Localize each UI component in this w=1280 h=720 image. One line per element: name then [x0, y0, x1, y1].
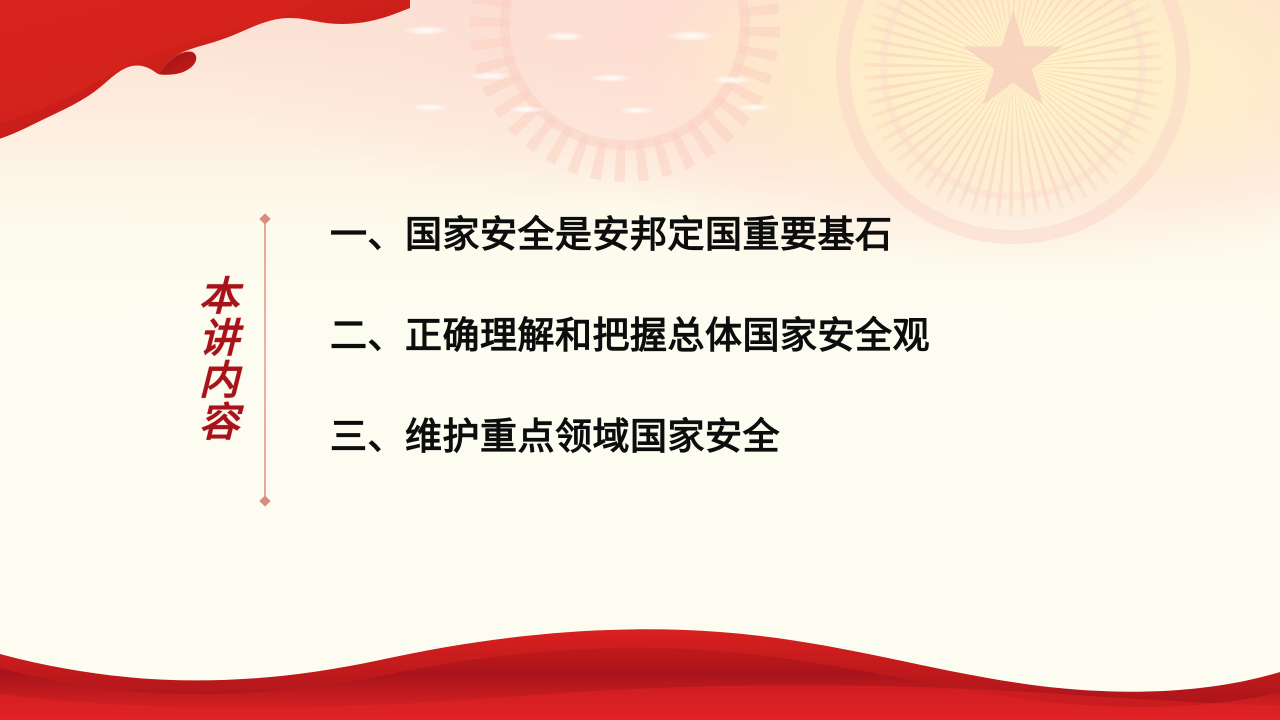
agenda-item-1[interactable]: 一、国家安全是安邦定国重要基石: [330, 216, 1090, 253]
presentation-slide: 本讲内容 一、国家安全是安邦定国重要基石 二、正确理解和把握总体国家安全观 三、…: [0, 0, 1280, 720]
agenda-item-3[interactable]: 三、维护重点领域国家安全: [330, 418, 1090, 455]
divider-diamond-top-icon: [259, 213, 270, 224]
vertical-section-title: 本讲内容: [182, 214, 244, 504]
divider-diamond-bottom-icon: [259, 495, 270, 506]
vertical-divider: [264, 219, 266, 501]
agenda-item-2[interactable]: 二、正确理解和把握总体国家安全观: [330, 317, 1090, 354]
slide-content: 本讲内容 一、国家安全是安邦定国重要基石 二、正确理解和把握总体国家安全观 三、…: [0, 0, 1280, 720]
agenda-list: 一、国家安全是安邦定国重要基石 二、正确理解和把握总体国家安全观 三、维护重点领…: [330, 216, 1090, 455]
